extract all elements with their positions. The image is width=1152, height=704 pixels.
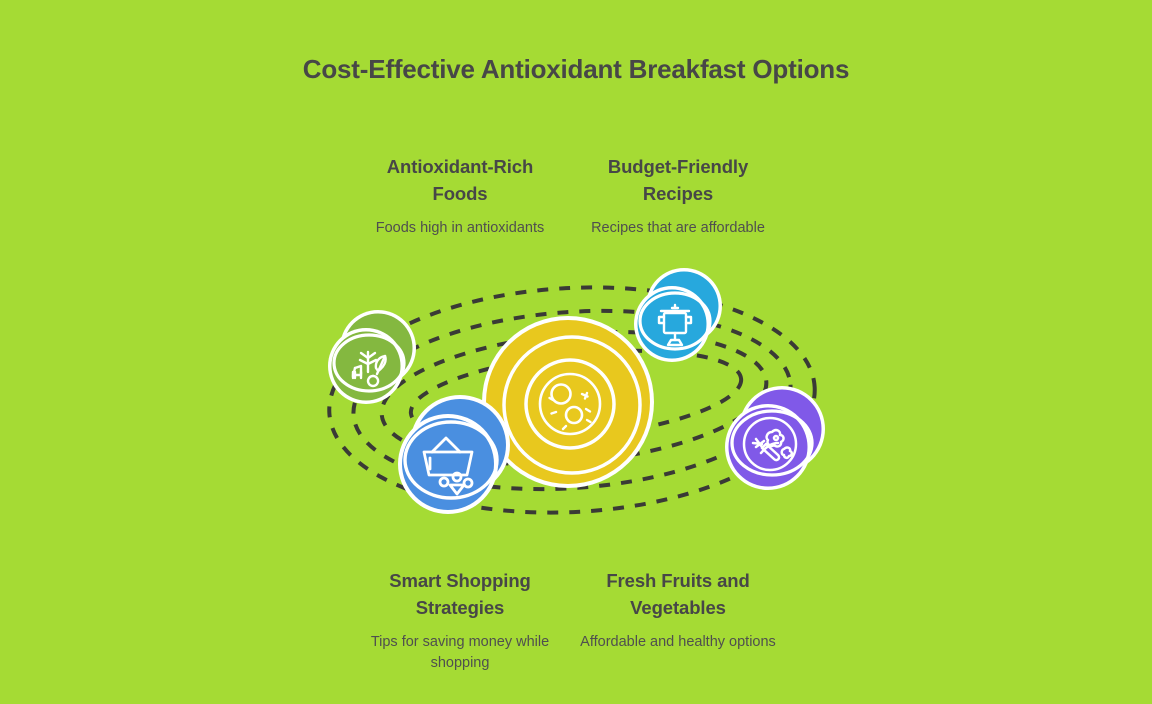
label-smart-shopping-strategies: Smart Shopping Strategies Tips for savin… <box>357 567 563 674</box>
label-title: Smart Shopping Strategies <box>357 567 563 621</box>
label-budget-friendly-recipes: Budget-Friendly Recipes Recipes that are… <box>575 153 781 239</box>
node-fresh-fruits-and-vegetables[interactable] <box>725 386 825 490</box>
orbital-diagram <box>320 272 832 532</box>
node-budget-friendly-recipes[interactable] <box>634 268 722 362</box>
label-title: Budget-Friendly Recipes <box>575 153 781 207</box>
infographic-canvas: Cost-Effective Antioxidant Breakfast Opt… <box>0 0 1152 704</box>
page-title: Cost-Effective Antioxidant Breakfast Opt… <box>276 52 876 86</box>
label-description: Foods high in antioxidants <box>357 218 563 239</box>
node-antioxidant-rich-foods[interactable] <box>328 310 416 404</box>
label-antioxidant-rich-foods: Antioxidant-Rich Foods Foods high in ant… <box>357 153 563 239</box>
label-description: Affordable and healthy options <box>575 632 781 653</box>
label-description: Recipes that are affordable <box>575 218 781 239</box>
label-title: Antioxidant-Rich Foods <box>357 153 563 207</box>
label-title: Fresh Fruits and Vegetables <box>575 567 781 621</box>
node-breakfast-center[interactable] <box>482 316 654 488</box>
label-description: Tips for saving money while shopping <box>357 632 563 674</box>
node-smart-shopping-strategies[interactable] <box>398 395 510 514</box>
label-fresh-fruits-and-vegetables: Fresh Fruits and Vegetables Affordable a… <box>575 567 781 653</box>
